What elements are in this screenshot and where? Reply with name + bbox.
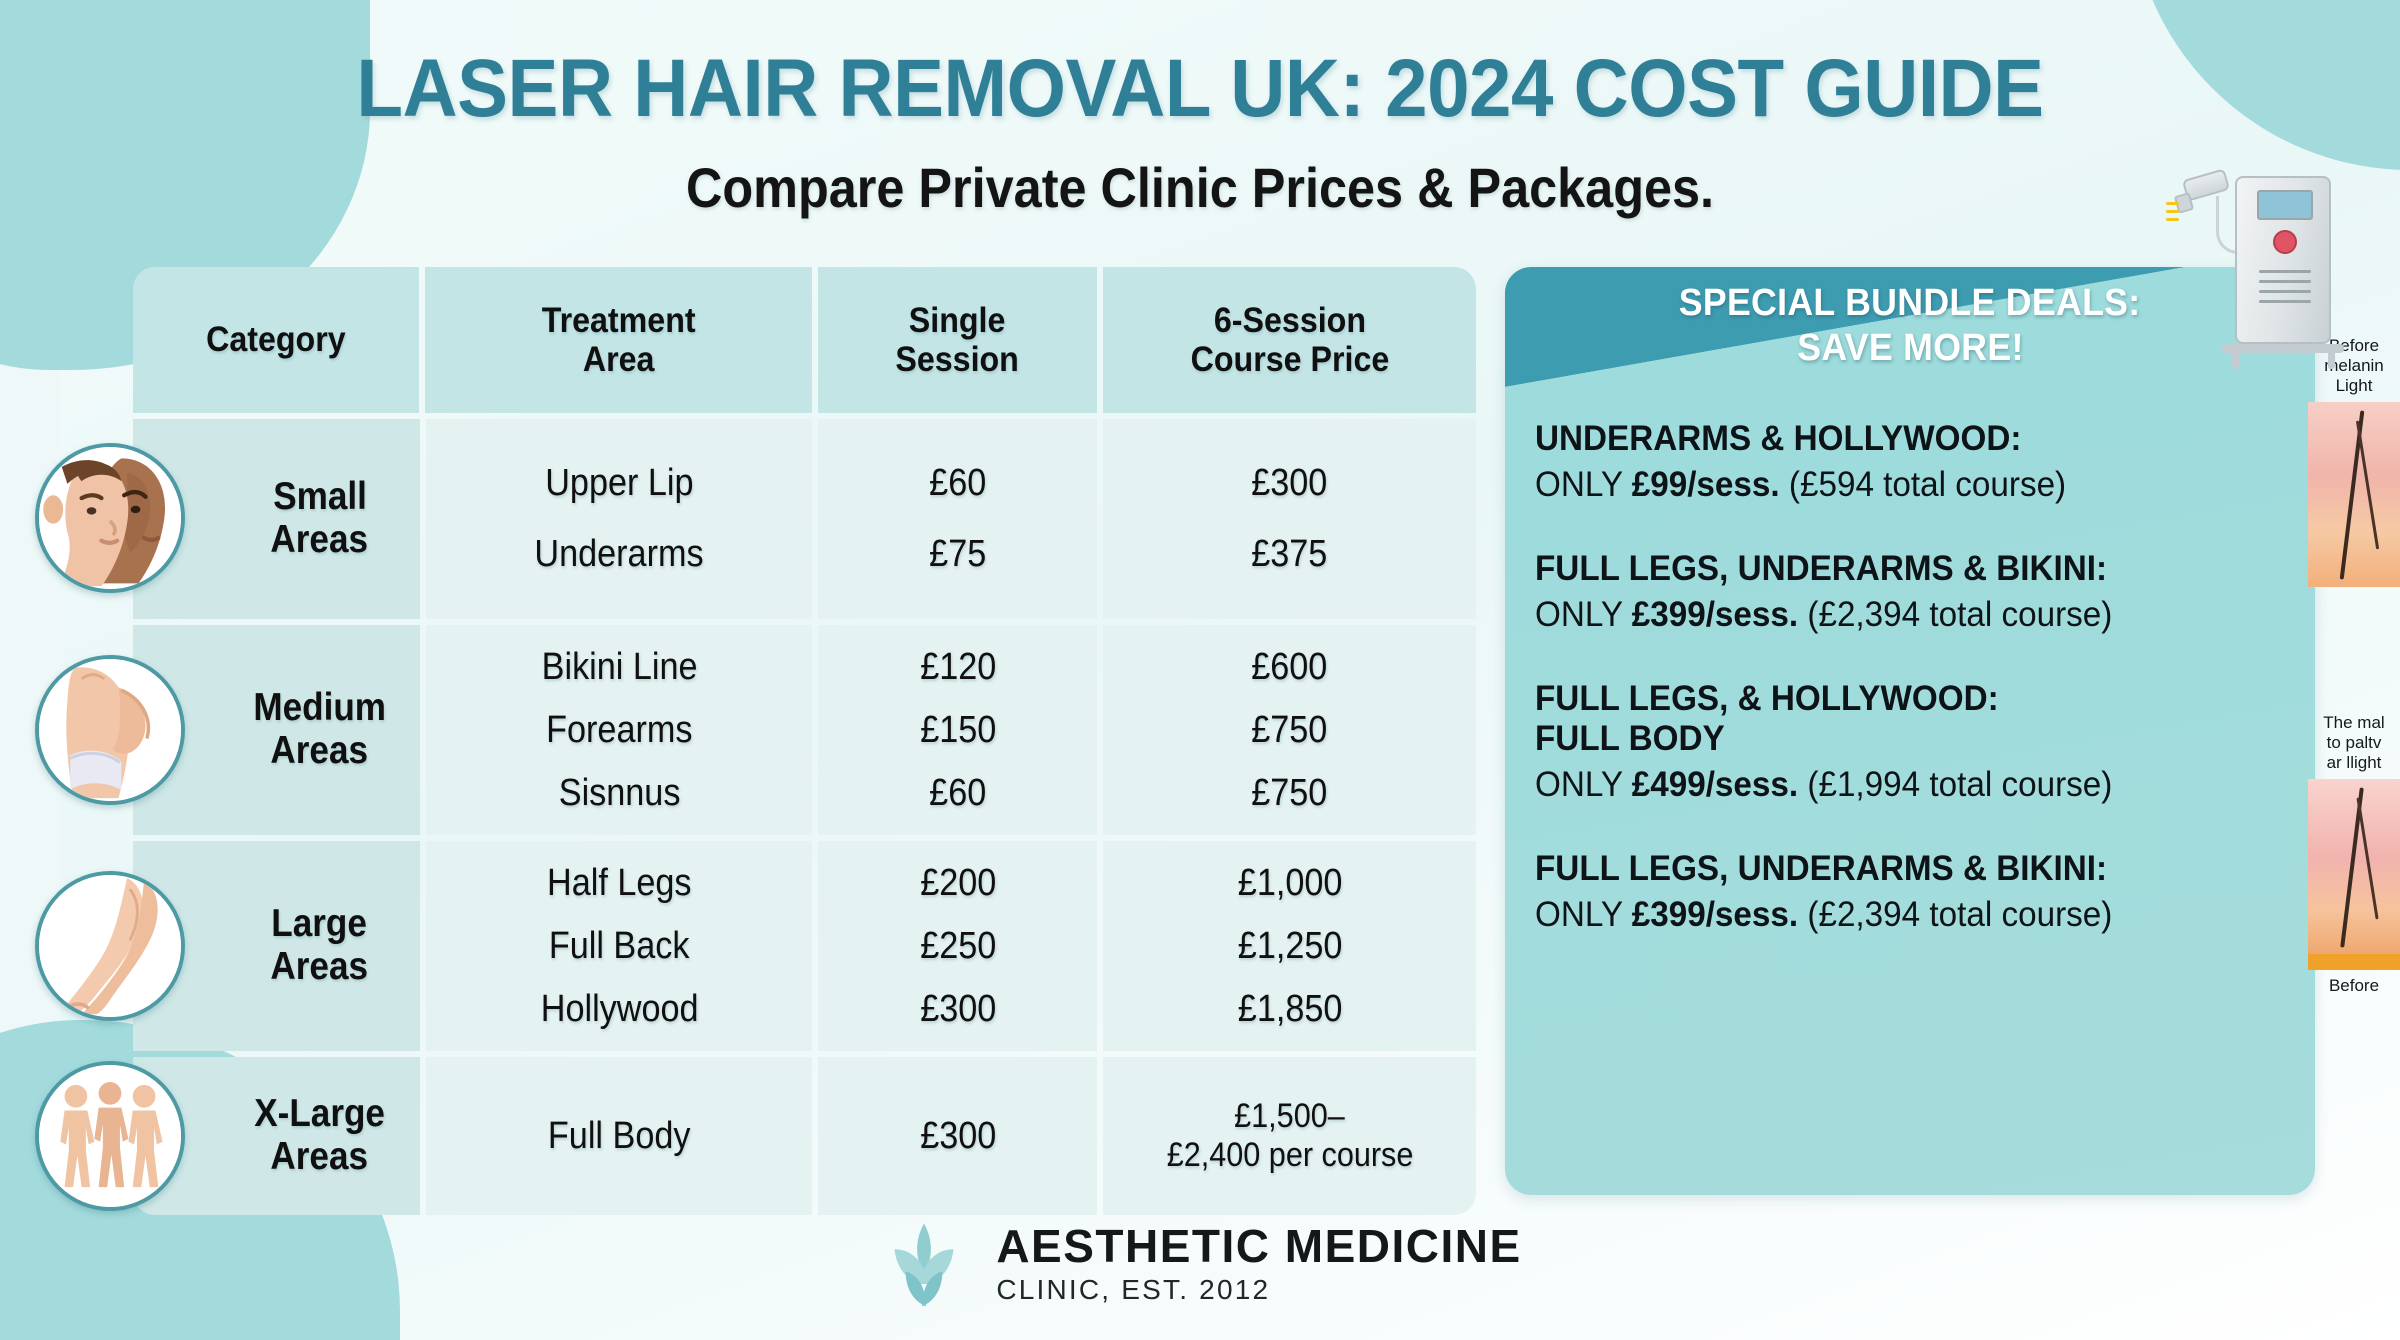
price-table: Category Treatment Area Single Session 6… <box>133 267 1476 1215</box>
row-single-session-prices: £200 £250 £300 <box>818 841 1097 1051</box>
edge-label-middle: The mal to paltv ar llight <box>2308 707 2400 779</box>
deal-price-line: ONLY £499/sess. (£1,994 total course) <box>1535 765 2248 805</box>
bundle-deal-item: UNDERARMS & HOLLYWOOD: ONLY £99/sess. (£… <box>1535 419 2285 505</box>
bundle-deal-item: FULL LEGS, & HOLLYWOOD: FULL BODY ONLY £… <box>1535 679 2285 804</box>
row-treatment-areas: Upper Lip Underarms <box>426 419 812 619</box>
deal-title-second-line: FULL BODY <box>1535 719 2248 758</box>
column-header-course-price: 6-Session Course Price <box>1103 267 1476 413</box>
bikini-underarm-icon <box>35 655 185 805</box>
row-single-session-prices: £120 £150 £60 <box>818 625 1097 835</box>
legs-icon <box>35 871 185 1021</box>
table-row: Medium Areas Bikini Line Forearms Sisnnu… <box>133 625 1476 835</box>
row-treatment-areas: Half Legs Full Back Hollywood <box>426 841 812 1051</box>
column-header-treatment-area: Treatment Area <box>425 267 812 413</box>
melanin-band <box>2308 954 2400 970</box>
row-course-prices: £1,500– £2,400 per course <box>1103 1057 1476 1215</box>
bundle-deal-item: FULL LEGS, UNDERARMS & BIKINI: ONLY £399… <box>1535 549 2285 635</box>
row-course-prices: £300 £375 <box>1103 419 1476 619</box>
full-body-figures-icon <box>35 1061 185 1211</box>
table-row: X-Large Areas Full Body £300 £1,500– £2,… <box>133 1057 1476 1215</box>
skin-cross-section-image-2 <box>2308 779 2400 954</box>
page-title: LASER HAIR REMOVAL UK: 2024 COST GUIDE <box>84 48 2316 130</box>
table-row: Large Areas Half Legs Full Back Hollywoo… <box>133 841 1476 1051</box>
lotus-leaf-logo-icon <box>878 1218 970 1310</box>
column-header-single-session: Single Session <box>818 267 1097 413</box>
table-row: Small Areas Upper Lip Underarms £60 £75 … <box>133 419 1476 619</box>
edge-label-bottom: Before <box>2308 970 2400 1002</box>
deal-title: FULL LEGS, & HOLLYWOOD: <box>1535 679 2248 718</box>
deal-title: FULL LEGS, UNDERARMS & BIKINI: <box>1535 849 2248 888</box>
special-bundle-deals-panel: SPECIAL BUNDLE DEALS: SAVE MORE! UNDERAR… <box>1505 267 2315 1195</box>
deal-title: FULL LEGS, UNDERARMS & BIKINI: <box>1535 549 2248 588</box>
row-single-session-prices: £300 <box>818 1057 1097 1215</box>
two-faces-profile-icon <box>35 443 185 593</box>
brand-name: AESTHETIC MEDICINE <box>996 1222 1521 1270</box>
row-treatment-areas: Bikini Line Forearms Sisnnus <box>426 625 812 835</box>
bundle-deal-item: FULL LEGS, UNDERARMS & BIKINI: ONLY £399… <box>1535 849 2285 935</box>
row-single-session-prices: £60 £75 <box>818 419 1097 619</box>
laser-machine-icon <box>2180 168 2360 368</box>
deal-price-line: ONLY £399/sess. (£2,394 total course) <box>1535 895 2248 935</box>
column-header-category: Category <box>133 267 419 413</box>
deal-price-line: ONLY £399/sess. (£2,394 total course) <box>1535 595 2248 635</box>
row-treatment-areas: Full Body <box>426 1057 812 1215</box>
skin-diagram-strip: Before melanin Light The mal to paltv ar… <box>2308 330 2400 1002</box>
table-header-row: Category Treatment Area Single Session 6… <box>133 267 1476 413</box>
footer-branding: AESTHETIC MEDICINE CLINIC, EST. 2012 <box>0 1218 2400 1310</box>
column-header-category-label: Category <box>206 320 346 359</box>
brand-tagline: CLINIC, EST. 2012 <box>996 1274 1521 1306</box>
page-subtitle: Compare Private Clinic Prices & Packages… <box>120 160 2280 216</box>
row-course-prices: £600 £750 £750 <box>1103 625 1476 835</box>
deal-price-line: ONLY £99/sess. (£594 total course) <box>1535 465 2248 505</box>
skin-cross-section-image-1 <box>2308 402 2400 587</box>
deal-title: UNDERARMS & HOLLYWOOD: <box>1535 419 2248 458</box>
row-course-prices: £1,000 £1,250 £1,850 <box>1103 841 1476 1051</box>
